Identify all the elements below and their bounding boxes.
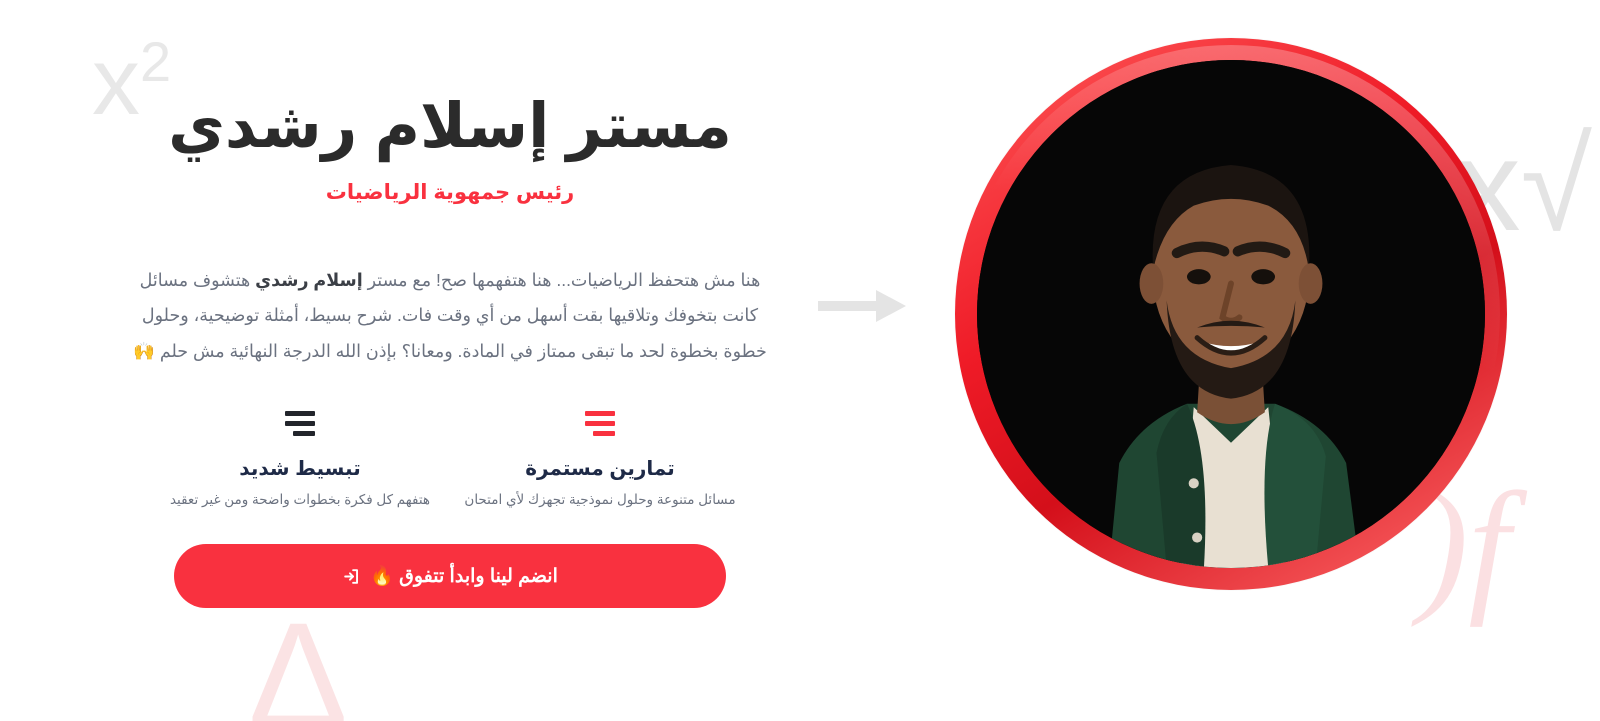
instructor-portrait — [955, 38, 1507, 590]
feature-title: تمارين مستمرة — [458, 456, 742, 481]
hero-text-column: مستر إسلام رشدي رئيس جمهوية الرياضيات هن… — [0, 0, 900, 721]
hero-subtitle: رئيس جمهوية الرياضيات — [110, 180, 790, 205]
feature-title: تبسيط شديد — [158, 456, 442, 481]
feature-description: هتفهم كل فكرة بخطوات واضحة ومن غير تعقيد — [158, 490, 442, 510]
feature-list: تبسيط شديد هتفهم كل فكرة بخطوات واضحة وم… — [110, 406, 790, 510]
portrait-photo — [977, 60, 1485, 568]
bars-icon — [458, 406, 742, 440]
portrait-illustration — [977, 60, 1485, 568]
hero-description-prefix: هنا مش هتحفظ الرياضيات... هنا هتفهمها صح… — [363, 270, 761, 290]
join-cta-button[interactable]: انضم لينا وابدأ تتفوق 🔥 — [174, 544, 726, 608]
hero-description-strong: إسلام رشدي — [255, 270, 363, 290]
feature-item-exercises: تمارين مستمرة مسائل متنوعة وحلول نموذجية… — [450, 406, 750, 510]
page-title: مستر إسلام رشدي — [110, 88, 790, 166]
sign-in-arrow-icon — [342, 567, 361, 586]
bars-icon — [158, 406, 442, 440]
cta-container: انضم لينا وابدأ تتفوق 🔥 — [110, 544, 790, 608]
hero-description: هنا مش هتحفظ الرياضيات... هنا هتفهمها صح… — [110, 263, 790, 371]
feature-description: مسائل متنوعة وحلول نموذجية تجهزك لأي امت… — [458, 490, 742, 510]
hero-section: x2 √x f( Δ مستر إسلام رشدي رئيس جمهوية ا… — [0, 0, 1600, 721]
cta-label: انضم لينا وابدأ تتفوق 🔥 — [370, 564, 558, 588]
feature-item-simplification: تبسيط شديد هتفهم كل فكرة بخطوات واضحة وم… — [150, 406, 450, 510]
